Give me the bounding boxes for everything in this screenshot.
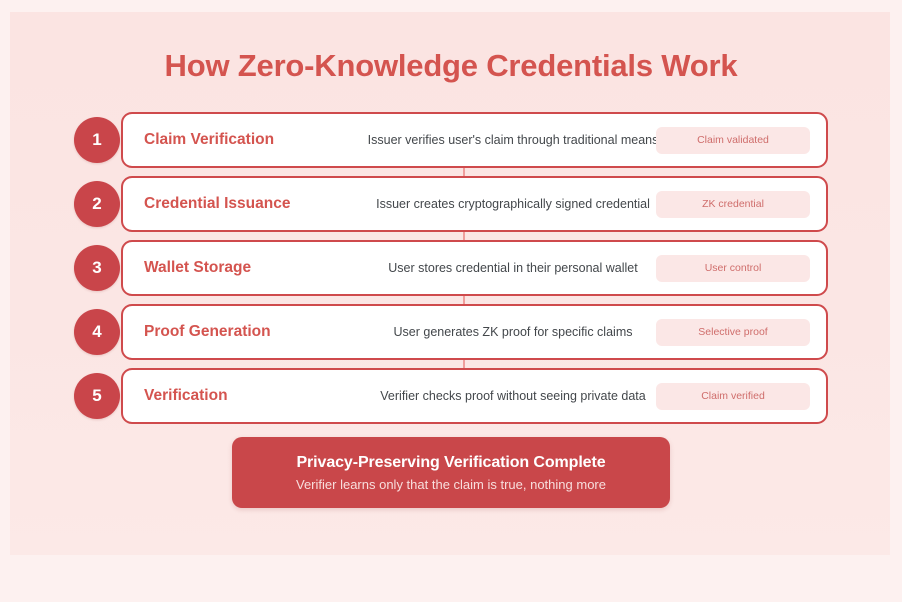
step-number-badge: 4 (74, 309, 120, 355)
step-card[interactable]: Credential Issuance Issuer creates crypt… (121, 176, 828, 232)
summary-subtitle: Verifier learns only that the claim is t… (296, 477, 606, 492)
step-description: User generates ZK proof for specific cla… (313, 325, 713, 339)
status-badge: Claim verified (656, 383, 810, 410)
summary-banner: Privacy-Preserving Verification Complete… (232, 437, 670, 508)
list-item: 4 Proof Generation User generates ZK pro… (0, 304, 902, 360)
step-card[interactable]: Wallet Storage User stores credential in… (121, 240, 828, 296)
step-card[interactable]: Verification Verifier checks proof witho… (121, 368, 828, 424)
step-title: Wallet Storage (144, 259, 251, 277)
step-description: Issuer creates cryptographically signed … (313, 197, 713, 211)
list-item: 5 Verification Verifier checks proof wit… (0, 368, 902, 424)
step-number-badge: 5 (74, 373, 120, 419)
infographic-canvas: How Zero-Knowledge Credentials Work 1 Cl… (0, 0, 902, 602)
list-item: 3 Wallet Storage User stores credential … (0, 240, 902, 296)
summary-title: Privacy-Preserving Verification Complete (296, 454, 605, 472)
steps-list: 1 Claim Verification Issuer verifies use… (0, 112, 902, 432)
step-number-badge: 1 (74, 117, 120, 163)
status-badge: User control (656, 255, 810, 282)
step-description: Verifier checks proof without seeing pri… (313, 389, 713, 403)
step-title: Proof Generation (144, 323, 271, 341)
status-badge: Claim validated (656, 127, 810, 154)
step-card[interactable]: Proof Generation User generates ZK proof… (121, 304, 828, 360)
step-title: Verification (144, 387, 228, 405)
list-item: 2 Credential Issuance Issuer creates cry… (0, 176, 902, 232)
list-item: 1 Claim Verification Issuer verifies use… (0, 112, 902, 168)
step-number-badge: 3 (74, 245, 120, 291)
status-badge: Selective proof (656, 319, 810, 346)
step-title: Claim Verification (144, 131, 274, 149)
page-title: How Zero-Knowledge Credentials Work (0, 48, 902, 84)
status-badge: ZK credential (656, 191, 810, 218)
step-description: User stores credential in their personal… (313, 261, 713, 275)
step-title: Credential Issuance (144, 195, 290, 213)
step-number-badge: 2 (74, 181, 120, 227)
step-card[interactable]: Claim Verification Issuer verifies user'… (121, 112, 828, 168)
step-description: Issuer verifies user's claim through tra… (313, 133, 713, 147)
